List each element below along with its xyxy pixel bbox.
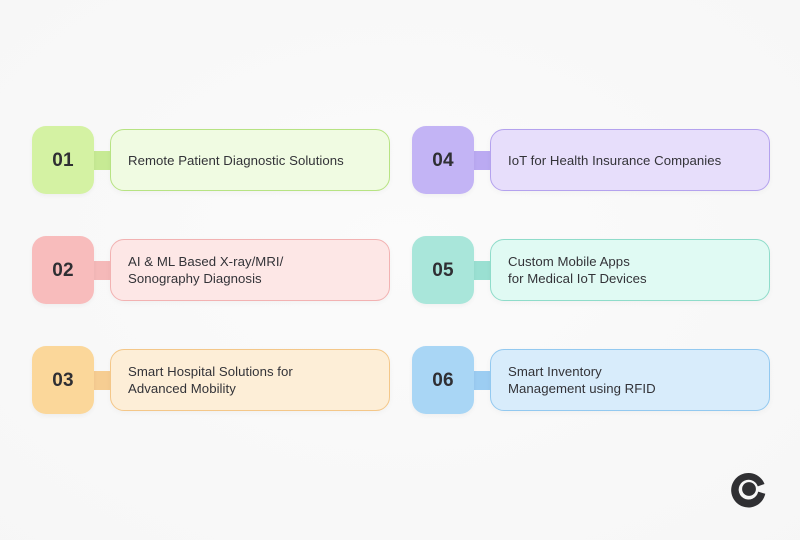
item-card[interactable]: Remote Patient Diagnostic Solutions [110,129,390,191]
item-number-badge: 05 [412,236,474,304]
list-item[interactable]: 01 Remote Patient Diagnostic Solutions [32,126,390,194]
brand-logo-icon [726,466,772,512]
item-card[interactable]: Smart Inventory Management using RFID [490,349,770,411]
item-number-badge: 01 [32,126,94,194]
list-item[interactable]: 02 AI & ML Based X-ray/MRI/ Sonography D… [32,236,390,304]
item-number-badge: 06 [412,346,474,414]
item-title: IoT for Health Insurance Companies [508,152,721,169]
list-item[interactable]: 04 IoT for Health Insurance Companies [412,126,770,194]
item-card[interactable]: IoT for Health Insurance Companies [490,129,770,191]
item-title: Custom Mobile Apps for Medical IoT Devic… [508,253,647,287]
item-title: Smart Hospital Solutions for Advanced Mo… [128,363,293,397]
slide-canvas: 01 Remote Patient Diagnostic Solutions 0… [0,0,800,540]
item-number-badge: 02 [32,236,94,304]
item-number: 05 [432,261,454,280]
item-card[interactable]: Custom Mobile Apps for Medical IoT Devic… [490,239,770,301]
item-card[interactable]: Smart Hospital Solutions for Advanced Mo… [110,349,390,411]
item-number: 04 [432,151,454,170]
item-card[interactable]: AI & ML Based X-ray/MRI/ Sonography Diag… [110,239,390,301]
item-number-badge: 04 [412,126,474,194]
item-number: 01 [52,151,74,170]
item-title: Smart Inventory Management using RFID [508,363,656,397]
list-item[interactable]: 05 Custom Mobile Apps for Medical IoT De… [412,236,770,304]
item-number: 03 [52,371,74,390]
solutions-grid: 01 Remote Patient Diagnostic Solutions 0… [32,126,770,414]
item-title: AI & ML Based X-ray/MRI/ Sonography Diag… [128,253,283,287]
item-number: 02 [52,261,74,280]
list-item[interactable]: 03 Smart Hospital Solutions for Advanced… [32,346,390,414]
list-item[interactable]: 06 Smart Inventory Management using RFID [412,346,770,414]
item-number-badge: 03 [32,346,94,414]
item-number: 06 [432,371,454,390]
item-title: Remote Patient Diagnostic Solutions [128,152,344,169]
